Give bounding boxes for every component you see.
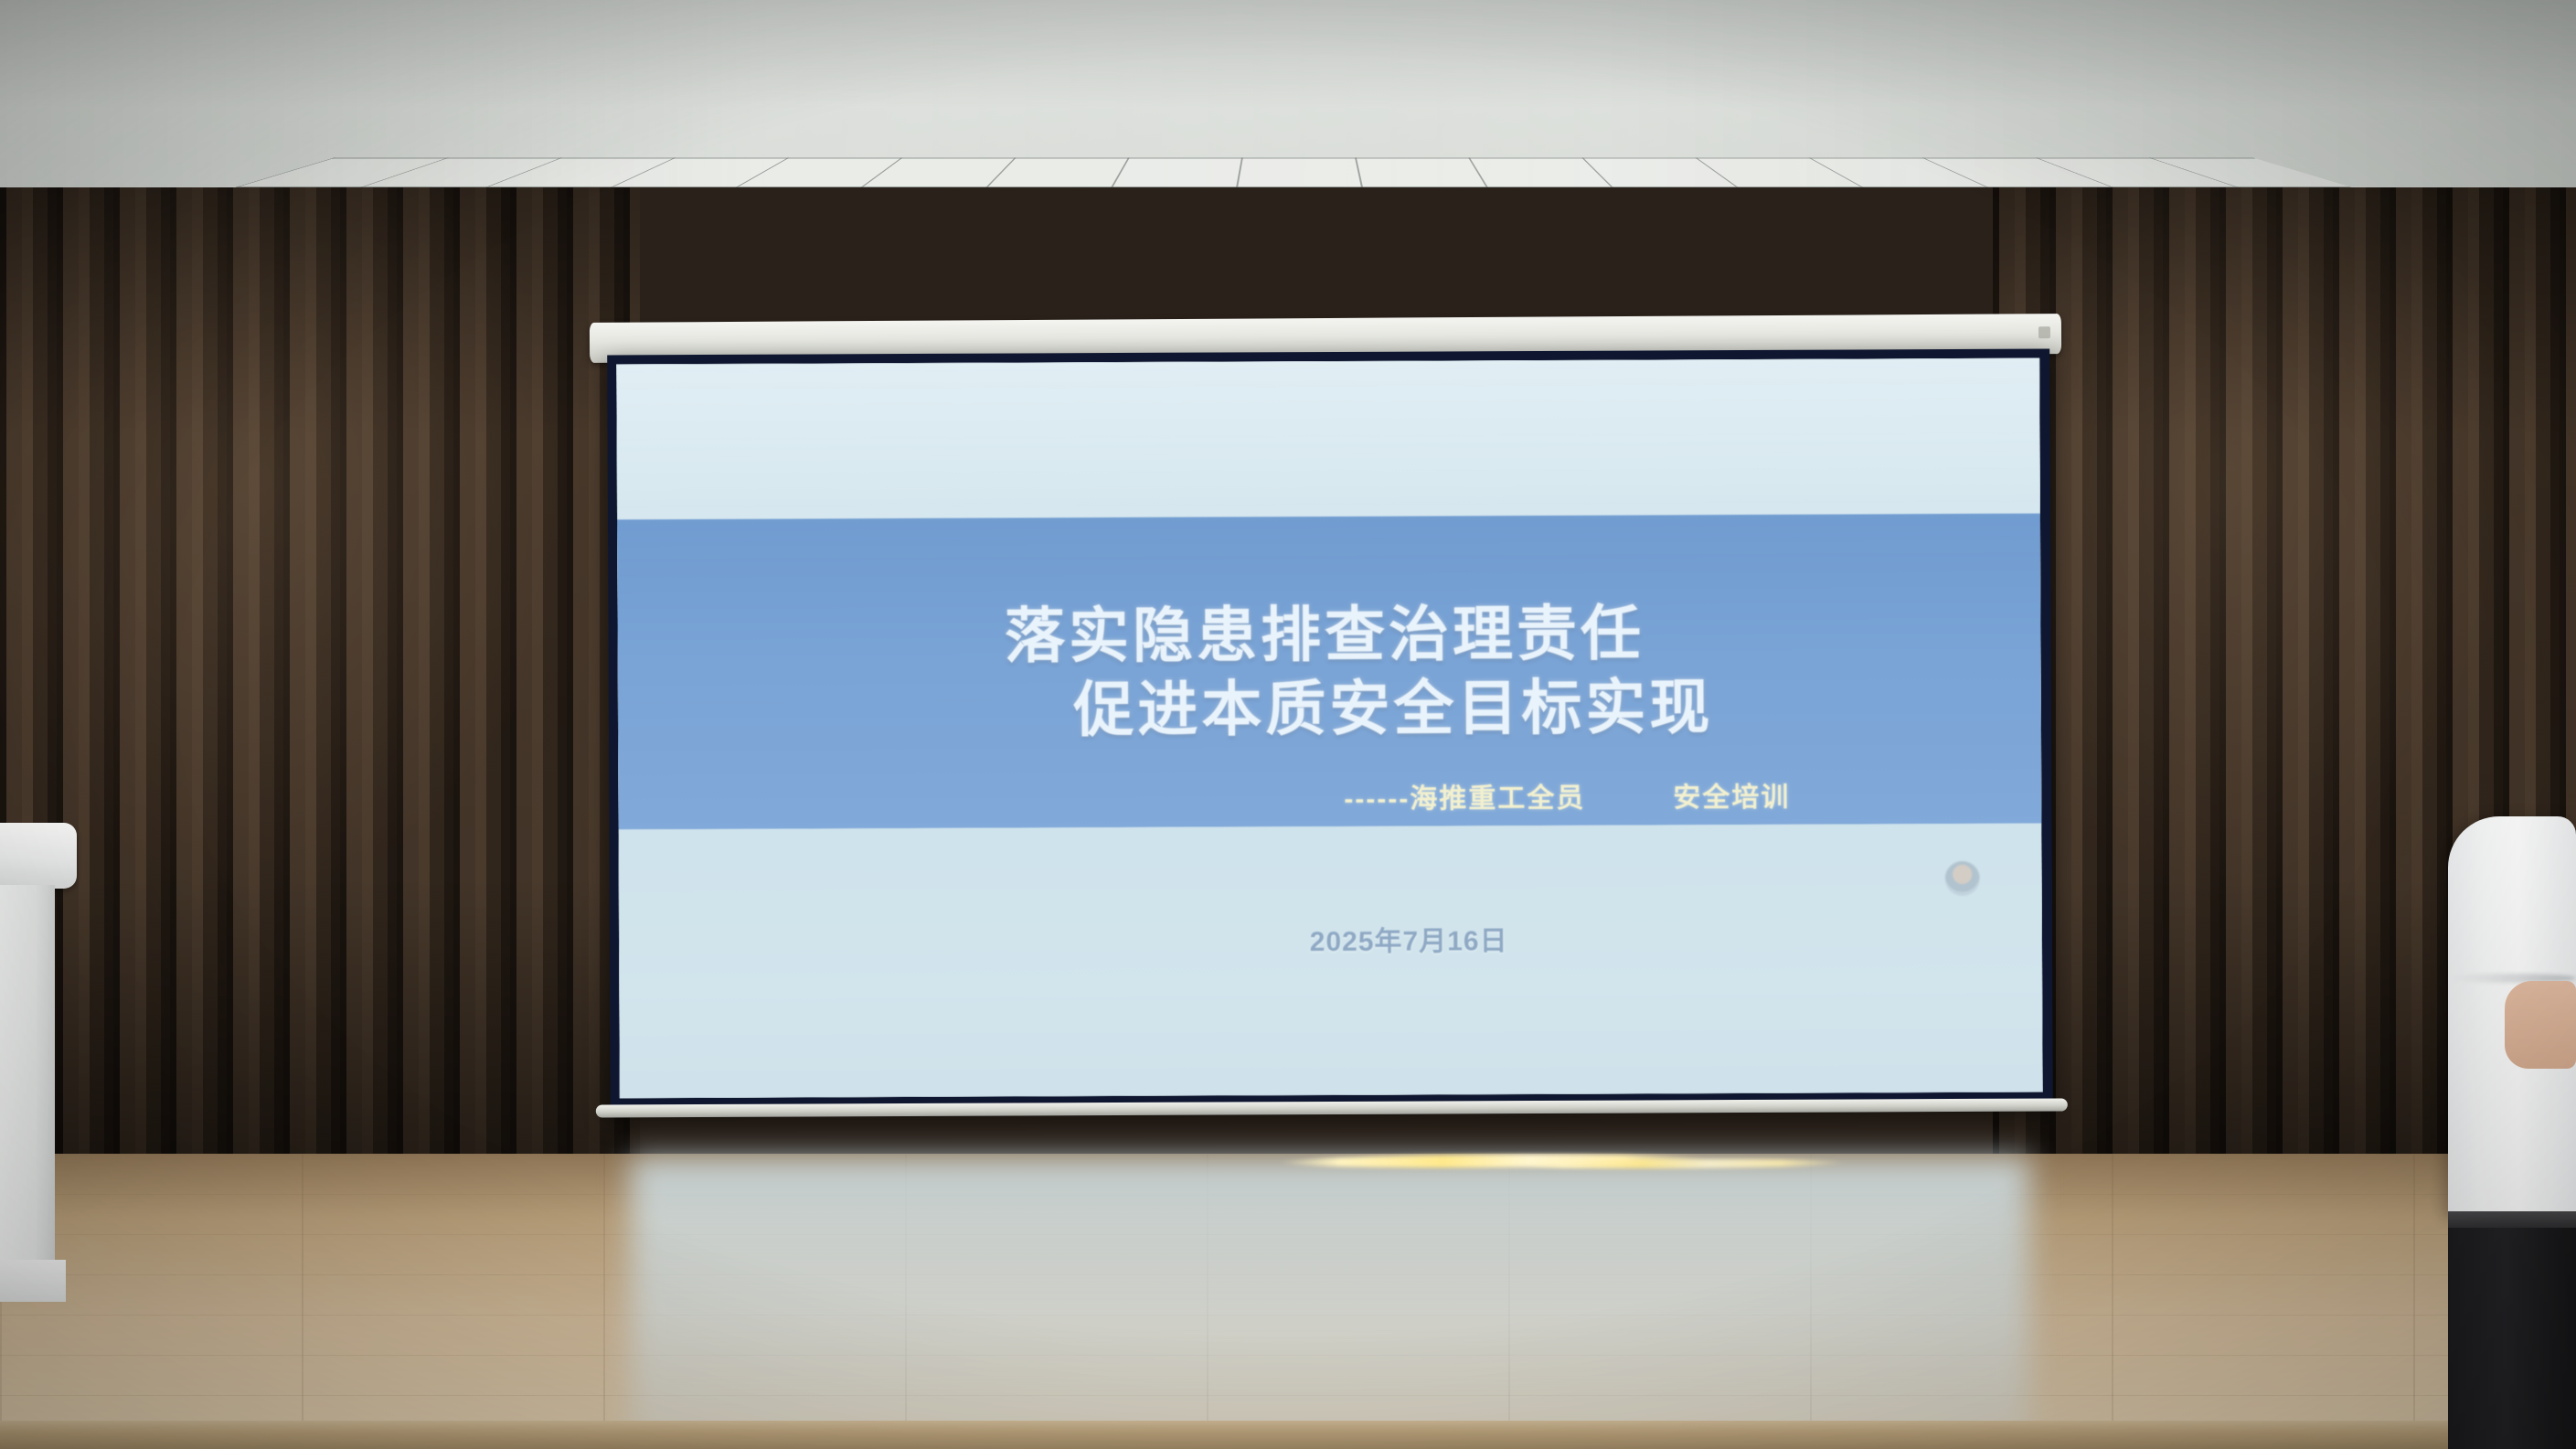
projection-surface: 落实隐患排查治理责任 促进本质安全目标实现 ------海推重工全员 安全培训 …	[616, 358, 2042, 1099]
slide-top-panel	[616, 358, 2040, 520]
slide-title-line-1: 落实隐患排查治理责任	[651, 595, 1998, 675]
lectern	[0, 823, 82, 1335]
slide-date: 2025年7月16日	[619, 916, 2042, 963]
projection-screen: 落实隐患排查治理责任 促进本质安全目标实现 ------海推重工全员 安全培训 …	[607, 349, 2053, 1112]
presenter-avatar-icon	[1945, 861, 1980, 896]
conference-room-scene: 落实隐患排查治理责任 促进本质安全目标实现 ------海推重工全员 安全培训 …	[0, 0, 2576, 1449]
slide-subtitle-topic: 安全培训	[1673, 773, 1790, 815]
lectern-column	[0, 885, 55, 1269]
lectern-top	[0, 823, 77, 889]
ceiling-shading	[0, 0, 2576, 197]
floor-front-edge	[0, 1421, 2576, 1449]
person-trousers	[2448, 1228, 2576, 1449]
ceiling	[0, 0, 2576, 197]
slide-subtitle-row: ------海推重工全员 安全培训	[618, 772, 2041, 819]
presentation-slide: 落实隐患排查治理责任 促进本质安全目标实现 ------海推重工全员 安全培训 …	[616, 358, 2042, 1099]
housing-endcap	[2038, 326, 2050, 338]
curtain-left	[0, 187, 640, 1175]
projector-light-spill-on-floor	[631, 1157, 2029, 1449]
slide-title-line-2: 促进本质安全目标实现	[788, 668, 1998, 747]
lectern-base	[0, 1260, 66, 1302]
person-arm	[2505, 981, 2576, 1069]
slide-subtitle-organization: ------海推重工全员	[1344, 774, 1585, 815]
standing-person	[2448, 816, 2576, 1449]
